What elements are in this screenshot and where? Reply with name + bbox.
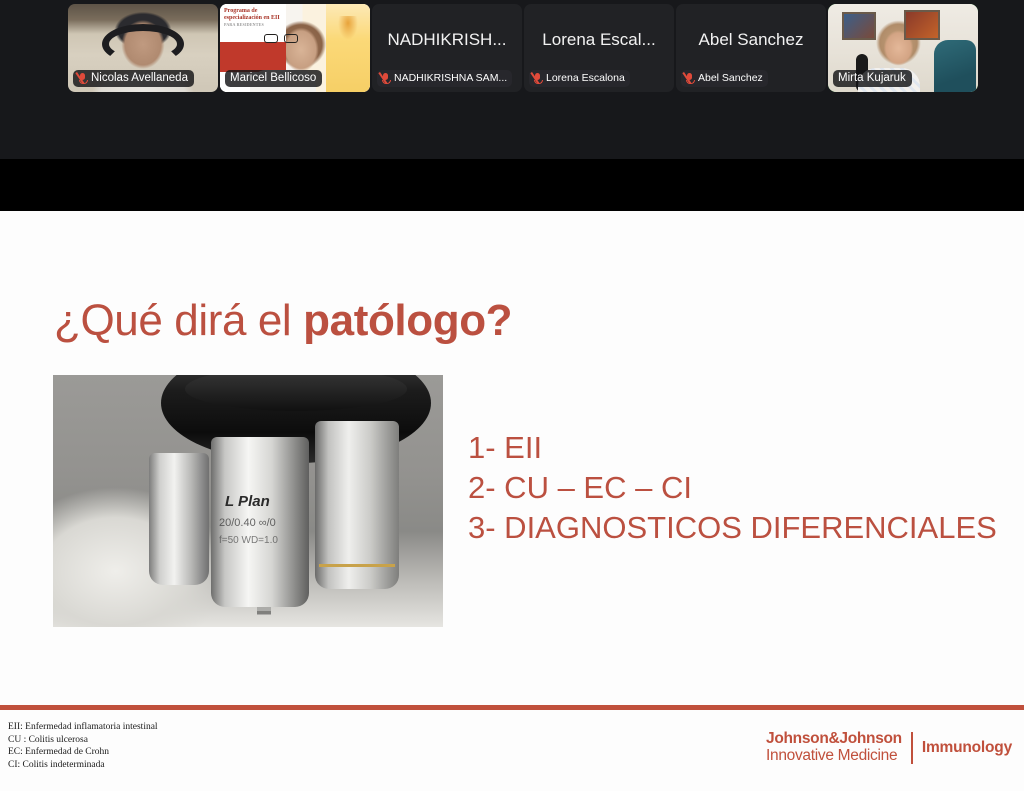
legend-line-2: CU : Colitis ulcerosa bbox=[8, 734, 158, 747]
participant-name-badge: Lorena Escalona bbox=[529, 70, 630, 87]
microscope-photo: L Plan 20/0.40 ∞/0 f=50 WD=1.0 bbox=[53, 375, 443, 627]
participant-name-label: Abel Sanchez bbox=[698, 72, 763, 84]
poster-right-panel bbox=[326, 4, 370, 92]
logo-line-2: Innovative Medicine bbox=[766, 748, 902, 765]
poster-subtitle: PARA RESIDENTES bbox=[224, 22, 282, 27]
mic-muted-icon bbox=[381, 73, 390, 84]
participant-tile-lorena-escalona[interactable]: Lorena Escal... Lorena Escalona bbox=[524, 4, 674, 92]
participant-tile-abel-sanchez[interactable]: Abel Sanchez Abel Sanchez bbox=[676, 4, 826, 92]
participant-name-badge: Abel Sanchez bbox=[681, 70, 768, 87]
slide-title: ¿Qué dirá el patólogo? bbox=[54, 296, 512, 346]
mic-muted-icon bbox=[78, 73, 87, 84]
abbreviation-legend: EII: Enfermedad inflamatoria intestinal … bbox=[8, 721, 158, 771]
participant-name-label: Nicolas Avellaneda bbox=[91, 72, 188, 84]
participant-name-label: Lorena Escalona bbox=[546, 72, 625, 84]
black-letterbox-band bbox=[0, 159, 1024, 211]
slide-title-plain: ¿Qué dirá el bbox=[54, 296, 303, 345]
wall-picture-frame bbox=[904, 10, 940, 40]
participant-name-badge: Maricel Bellicoso bbox=[225, 70, 322, 87]
shared-slide: ¿Qué dirá el patólogo? L Plan 20/0.40 ∞/… bbox=[0, 211, 1024, 791]
legend-line-1: EII: Enfermedad inflamatoria intestinal bbox=[8, 721, 158, 734]
legend-line-4: CI: Colitis indeterminada bbox=[8, 759, 158, 772]
slide-bullet-list: 1- EII 2- CU – EC – CI 3- DIAGNOSTICOS D… bbox=[468, 429, 997, 548]
logo-divider bbox=[911, 732, 913, 764]
participant-tiles: Nicolas Avellaneda Programa de especiali… bbox=[68, 4, 978, 92]
participant-tile-maricel-bellicoso[interactable]: Programa de especialización en EII PARA … bbox=[220, 4, 370, 92]
participant-tile-nadhikrishna[interactable]: NADHIKRISH... NADHIKRISHNA SAM... bbox=[372, 4, 522, 92]
participant-tile-nicolas-avellaneda[interactable]: Nicolas Avellaneda bbox=[68, 4, 218, 92]
participant-name-label: Maricel Bellicoso bbox=[230, 72, 316, 84]
participant-name-badge: Nicolas Avellaneda bbox=[73, 70, 194, 87]
poster-title: Programa de especialización en EII bbox=[224, 8, 282, 21]
mic-muted-icon bbox=[533, 73, 542, 84]
participant-name-label: Mirta Kujaruk bbox=[838, 72, 906, 84]
bullet-item-1: 1- EII bbox=[468, 429, 997, 467]
bullet-item-2: 2- CU – EC – CI bbox=[468, 469, 997, 507]
slide-title-bold: patólogo? bbox=[303, 296, 512, 345]
legend-line-3: EC: Enfermedad de Crohn bbox=[8, 746, 158, 759]
participant-name-badge: NADHIKRISHNA SAM... bbox=[377, 70, 512, 87]
participant-display-name: NADHIKRISH... bbox=[372, 30, 522, 50]
lens-spec-label: 20/0.40 ∞/0 bbox=[219, 517, 276, 529]
microscope-objective-right bbox=[315, 421, 399, 589]
johnson-johnson-logo: Johnson&Johnson Innovative Medicine Immu… bbox=[766, 731, 1012, 764]
participant-tile-mirta-kujaruk[interactable]: Mirta Kujaruk bbox=[828, 4, 978, 92]
bullet-item-3: 3- DIAGNOSTICOS DIFERENCIALES bbox=[468, 509, 997, 547]
participant-display-name: Abel Sanchez bbox=[676, 30, 826, 50]
wall-picture-frame bbox=[842, 12, 876, 40]
chair-shape bbox=[934, 40, 976, 92]
footer-divider-rule bbox=[0, 705, 1024, 710]
participant-name-label: NADHIKRISHNA SAM... bbox=[394, 72, 507, 84]
glasses-shape bbox=[264, 34, 298, 43]
mic-muted-icon bbox=[685, 73, 694, 84]
lens-spec2-label: f=50 WD=1.0 bbox=[219, 535, 278, 546]
logo-business-unit: Immunology bbox=[922, 739, 1012, 757]
microscope-objective-left bbox=[149, 453, 209, 585]
logo-line-1: Johnson&Johnson bbox=[766, 731, 902, 748]
participant-name-badge: Mirta Kujaruk bbox=[833, 70, 912, 87]
video-conference-strip: Nicolas Avellaneda Programa de especiali… bbox=[0, 0, 1024, 159]
screen: Nicolas Avellaneda Programa de especiali… bbox=[0, 0, 1024, 791]
lens-brand-label: L Plan bbox=[225, 493, 270, 510]
participant-display-name: Lorena Escal... bbox=[524, 30, 674, 50]
